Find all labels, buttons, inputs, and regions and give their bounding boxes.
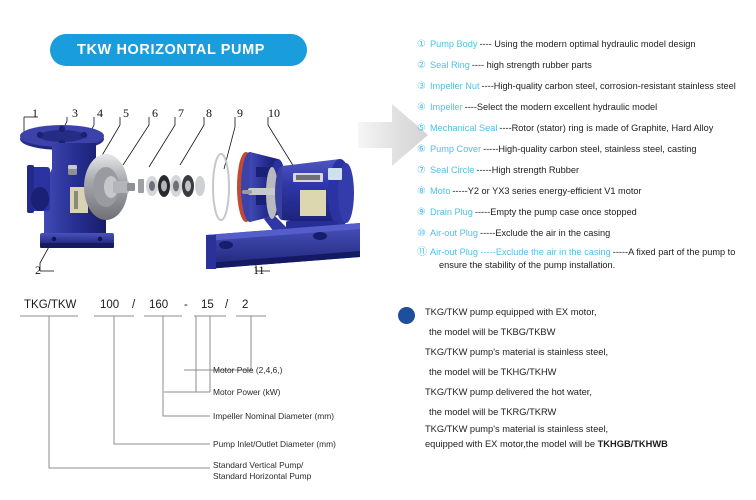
feature-item: ③ Impeller Nut ----High-quality carbon s… bbox=[417, 76, 752, 97]
model-code-diagram: TKG/TKW 100 / 160 - 15 / 2 bbox=[14, 296, 394, 496]
note-line: the model will be TKRG/TKRW bbox=[398, 402, 748, 422]
callout-5: 5 bbox=[123, 106, 129, 121]
model-token-pole: 2 bbox=[242, 299, 248, 311]
feature-number: ⑤ bbox=[417, 118, 430, 139]
feature-desc: ----Rotor (stator) ring is made of Graph… bbox=[499, 118, 713, 139]
callout-3: 3 bbox=[72, 106, 78, 121]
feature-desc: -----Y2 or YX3 series energy-efficient V… bbox=[452, 181, 641, 202]
feature-name: Mechanical Seal bbox=[430, 118, 497, 139]
callout-4: 4 bbox=[97, 106, 103, 121]
feature-item: ⑧ Moto -----Y2 or YX3 series energy-effi… bbox=[417, 181, 752, 202]
filled-circle-bullet-icon bbox=[398, 307, 415, 324]
feature-item: ⑤ Mechanical Seal ----Rotor (stator) rin… bbox=[417, 118, 752, 139]
mechanical-seal-stack bbox=[138, 175, 205, 197]
pump-exploded-view bbox=[10, 95, 380, 290]
feature-number: ⑥ bbox=[417, 139, 430, 160]
callout-7: 7 bbox=[178, 106, 184, 121]
note-line: TKG/TKW pump's material is stainless ste… bbox=[398, 342, 748, 362]
variant-notes: TKG/TKW pump equipped with EX motor, the… bbox=[398, 302, 748, 452]
feature-name: Impeller Nut bbox=[430, 76, 480, 97]
feature-name: Seal Circle bbox=[430, 160, 474, 181]
feature-desc: -----Exclude the air in the casing bbox=[480, 223, 610, 244]
feature-desc-line2: ensure the stability of the pump install… bbox=[430, 259, 735, 272]
feature-number: ① bbox=[417, 34, 430, 55]
feature-desc: ----High-quality carbon steel, corrosion… bbox=[482, 76, 736, 97]
feature-desc: ---- high strength rubber parts bbox=[472, 55, 592, 76]
note-final-model: TKHGB/TKHWB bbox=[598, 439, 668, 449]
feature-number: ⑪ bbox=[417, 246, 430, 259]
feature-name: Moto bbox=[430, 181, 450, 202]
model-token-slash-2: / bbox=[225, 299, 229, 311]
model-token-prefix: TKG/TKW bbox=[24, 299, 77, 311]
feature-item: ④ Impeller ----Select the modern excelle… bbox=[417, 97, 752, 118]
feature-desc: ----Select the modern excellent hydrauli… bbox=[465, 97, 658, 118]
note-line: the model will be TKHG/TKHW bbox=[398, 362, 748, 382]
feature-item-last: ⑪ Air-out Plug -----Exclude the air in t… bbox=[417, 246, 752, 272]
feature-item: ⑥ Pump Cover -----High-quality carbon st… bbox=[417, 139, 752, 160]
feature-name: Air-out Plug -----Exclude the air in the… bbox=[430, 247, 611, 257]
note-final-prefix: equipped with EX motor,the model will be bbox=[425, 439, 598, 449]
feature-number: ⑦ bbox=[417, 160, 430, 181]
spec-sheet-page: TKW HORIZONTAL PUMP bbox=[0, 0, 756, 500]
feature-desc: -----High-quality carbon steel, stainles… bbox=[483, 139, 696, 160]
callout-10: 10 bbox=[268, 106, 280, 121]
model-label-inlet-dia: Pump Inlet/Outlet Diameter (mm) bbox=[213, 439, 336, 449]
feature-number: ⑨ bbox=[417, 202, 430, 223]
callout-8: 8 bbox=[206, 106, 212, 121]
note-line: TKG/TKW pump equipped with EX motor, bbox=[398, 302, 748, 322]
feature-item: ⑩ Air-out Plug -----Exclude the air in t… bbox=[417, 223, 752, 244]
feature-item: ⑨ Drain Plug -----Empty the pump case on… bbox=[417, 202, 752, 223]
model-token-inlet: 100 bbox=[100, 299, 119, 311]
callout-6: 6 bbox=[152, 106, 158, 121]
feature-desc: -----Empty the pump case once stopped bbox=[475, 202, 637, 223]
title-banner: TKW HORIZONTAL PUMP bbox=[50, 34, 307, 66]
model-label-std-horizontal: Standard Horizontal Pump bbox=[213, 471, 312, 481]
note-line: TKG/TKW pump delivered the hot water, bbox=[398, 382, 748, 402]
callout-11: 11 bbox=[253, 263, 265, 278]
feature-name: Drain Plug bbox=[430, 202, 473, 223]
motor-base-part bbox=[206, 223, 360, 269]
impeller-nut-part bbox=[68, 165, 77, 175]
feature-item: ① Pump Body ---- Using the modern optima… bbox=[417, 34, 752, 55]
feature-desc: -----High strength Rubber bbox=[476, 160, 579, 181]
feature-number: ④ bbox=[417, 97, 430, 118]
feature-number: ⑧ bbox=[417, 181, 430, 202]
model-label-motor-power: Motor Power (kW) bbox=[213, 387, 281, 397]
feature-name: Pump Cover bbox=[430, 139, 481, 160]
feature-name: Air-out Plug bbox=[430, 223, 478, 244]
callout-1: 1 bbox=[32, 106, 38, 121]
feature-item: ⑦ Seal Circle -----High strength Rubber bbox=[417, 160, 752, 181]
feature-number: ② bbox=[417, 55, 430, 76]
callout-2: 2 bbox=[35, 263, 41, 278]
feature-item: ② Seal Ring ---- high strength rubber pa… bbox=[417, 55, 752, 76]
feature-list: ① Pump Body ---- Using the modern optima… bbox=[417, 34, 752, 272]
seal-circle-part bbox=[213, 154, 229, 220]
model-token-impeller: 160 bbox=[149, 299, 168, 311]
model-label-motor-pole: Motor Pole (2,4,6,) bbox=[213, 365, 283, 375]
model-token-dash: - bbox=[184, 299, 188, 311]
page-title: TKW HORIZONTAL PUMP bbox=[50, 42, 265, 58]
model-token-power: 15 bbox=[201, 299, 214, 311]
feature-number: ⑩ bbox=[417, 223, 430, 244]
model-label-stubs bbox=[164, 370, 210, 468]
callout-9: 9 bbox=[237, 106, 243, 121]
feature-name: Pump Body bbox=[430, 34, 478, 55]
feature-number: ③ bbox=[417, 76, 430, 97]
feature-desc: -----A fixed part of the pump to bbox=[613, 247, 736, 257]
note-line: the model will be TKBG/TKBW bbox=[398, 322, 748, 342]
model-label-impeller-dia: Impeller Nominal Diameter (mm) bbox=[213, 411, 334, 421]
feature-name: Impeller bbox=[430, 97, 463, 118]
impeller-part bbox=[84, 154, 135, 220]
feature-desc: ---- Using the modern optimal hydraulic … bbox=[480, 34, 696, 55]
feature-name: Seal Ring bbox=[430, 55, 470, 76]
note-line-final: equipped with EX motor,the model will be… bbox=[398, 437, 748, 452]
model-label-std-vertical: Standard Vertical Pump/ bbox=[213, 460, 304, 470]
note-line: TKG/TKW pump's material is stainless ste… bbox=[398, 422, 748, 437]
model-token-slash-1: / bbox=[132, 299, 136, 311]
